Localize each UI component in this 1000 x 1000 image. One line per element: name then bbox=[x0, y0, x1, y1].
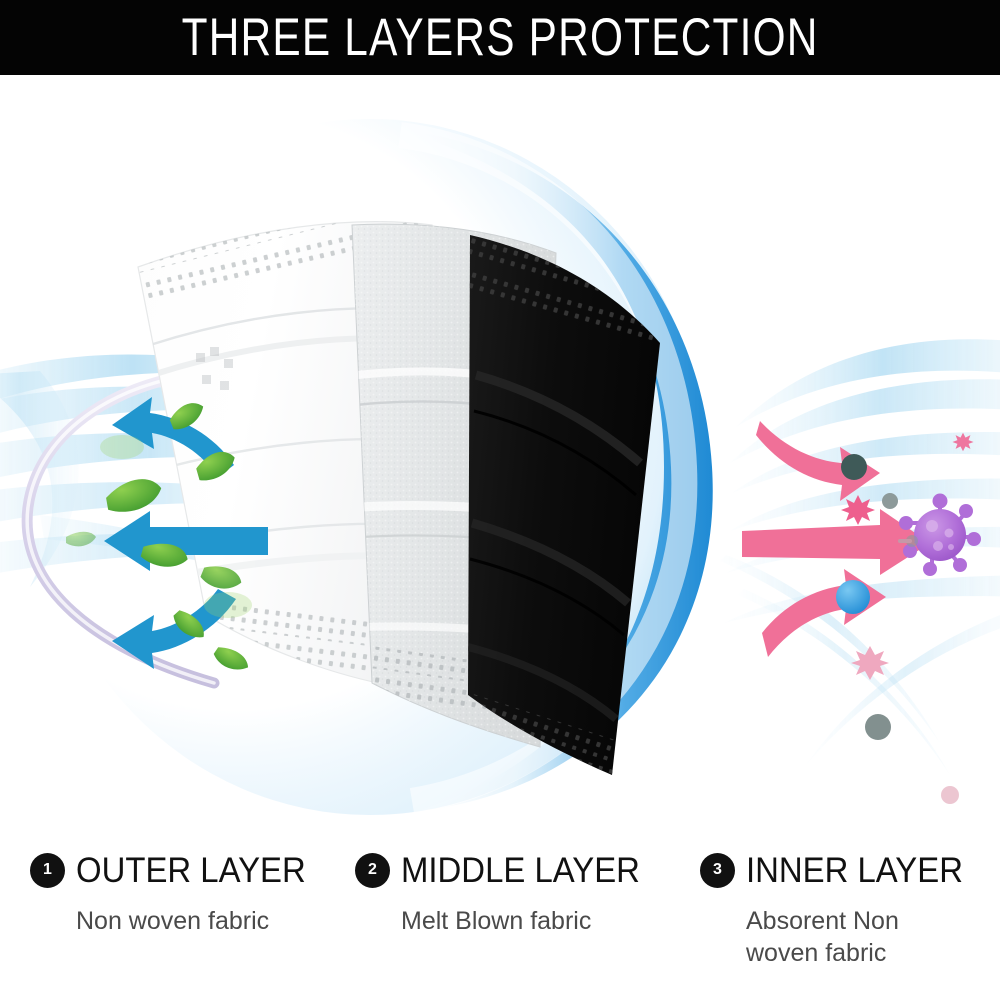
blue-dot-icon bbox=[836, 580, 870, 614]
legend-badge-2: 2 bbox=[355, 853, 390, 888]
legend-head: 3 INNER LAYER bbox=[700, 845, 990, 895]
legend-item-middle: 2 MIDDLE LAYER Melt Blown fabric bbox=[355, 845, 685, 937]
legend-title-inner: INNER LAYER bbox=[746, 853, 963, 888]
legend-subtitle-outer: Non woven fabric bbox=[76, 905, 326, 937]
legend-item-inner: 3 INNER LAYER Absorent Non woven fabric bbox=[700, 845, 990, 969]
legend-title-outer: OUTER LAYER bbox=[76, 853, 306, 888]
legend-title-middle: MIDDLE LAYER bbox=[401, 853, 640, 888]
legend-head: 2 MIDDLE LAYER bbox=[355, 845, 685, 895]
legend-subtitle-inner: Absorent Non woven fabric bbox=[746, 905, 961, 969]
title-bar: THREE LAYERS PROTECTION bbox=[0, 0, 1000, 75]
page-title: THREE LAYERS PROTECTION bbox=[182, 11, 819, 64]
pale-dot-icon bbox=[941, 786, 959, 804]
infographic-canvas: THREE LAYERS PROTECTION bbox=[0, 0, 1000, 1000]
dark-dot-icon-2 bbox=[865, 714, 891, 740]
legend-item-outer: 1 OUTER LAYER Non woven fabric bbox=[30, 845, 360, 937]
layer-legend: 1 OUTER LAYER Non woven fabric 2 MIDDLE … bbox=[0, 845, 1000, 1000]
mask-illustration bbox=[0, 75, 1000, 840]
gray-dot-icon bbox=[882, 493, 898, 509]
pale-pink-germ-icon bbox=[851, 646, 889, 680]
dark-dot-icon bbox=[841, 454, 867, 480]
legend-badge-3: 3 bbox=[700, 853, 735, 888]
legend-subtitle-middle: Melt Blown fabric bbox=[401, 905, 651, 937]
legend-badge-1: 1 bbox=[30, 853, 65, 888]
legend-head: 1 OUTER LAYER bbox=[30, 845, 360, 895]
